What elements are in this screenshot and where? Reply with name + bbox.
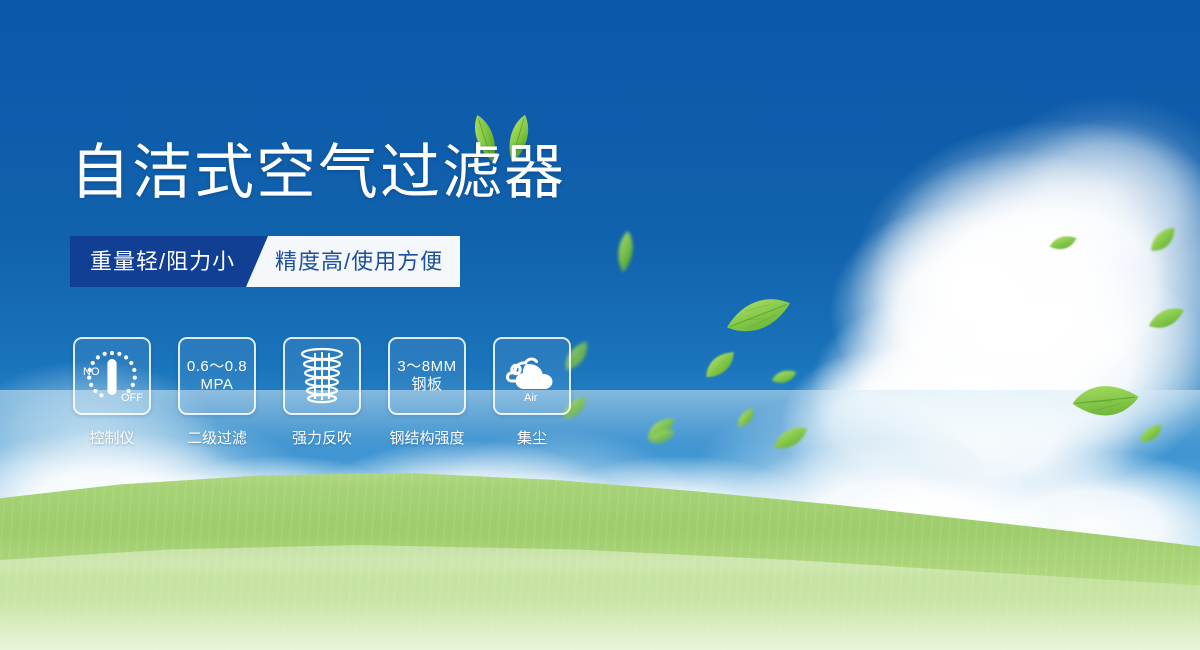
feature-box-line1: 3～8MM	[397, 358, 456, 375]
pressure-text-icon: 0.6～0.8 MPA	[187, 358, 247, 393]
feature-box-line2: 钢板	[397, 376, 456, 394]
gauge-no-label: NO	[83, 366, 100, 378]
feature-icon-box: 3～8MM 钢板	[388, 337, 466, 415]
cloud-air-icon: Air	[502, 346, 562, 406]
feature-box-line2: MPA	[187, 376, 247, 394]
feature-label: 钢结构强度	[389, 427, 464, 448]
filter-stack-icon	[294, 347, 350, 405]
feature-label: 控制仪	[89, 427, 134, 448]
feature-icon-box: 0.6～0.8 MPA	[178, 337, 256, 415]
page-title: 自洁式空气过滤器	[70, 143, 566, 203]
feature-list: NO OFF 控制仪 0.6～0.8 MPA 二级过滤	[74, 337, 570, 448]
feature-label: 集尘	[517, 427, 547, 448]
feature-icon-box: NO OFF	[73, 337, 151, 415]
feature-label: 强力反吹	[292, 427, 352, 448]
feature-icon-box: Air	[493, 337, 571, 415]
feature-item-steel-strength[interactable]: 3～8MM 钢板 钢结构强度	[389, 337, 465, 448]
feature-item-dust-collection[interactable]: Air 集尘	[494, 337, 570, 448]
feature-label: 二级过滤	[187, 427, 247, 448]
product-banner: 自洁式空气过滤器 重量轻/阻力小 精度高/使用方便	[0, 0, 1200, 650]
subtitle-bar: 重量轻/阻力小 精度高/使用方便	[70, 236, 460, 287]
steel-plate-text-icon: 3～8MM 钢板	[397, 358, 456, 393]
feature-item-control-gauge[interactable]: NO OFF 控制仪	[74, 337, 150, 448]
subtitle-left-label: 重量轻/阻力小	[90, 236, 235, 287]
feature-item-secondary-filter[interactable]: 0.6～0.8 MPA 二级过滤	[179, 337, 255, 448]
subtitle-right-label: 精度高/使用方便	[275, 236, 443, 287]
feature-item-strong-blowback[interactable]: 强力反吹	[284, 337, 360, 448]
feature-box-line1: 0.6～0.8	[187, 358, 247, 375]
gauge-dial-icon: NO OFF	[81, 345, 143, 407]
feature-icon-box	[283, 337, 361, 415]
gauge-off-label: OFF	[121, 392, 143, 404]
cloud-air-caption: Air	[524, 392, 538, 404]
